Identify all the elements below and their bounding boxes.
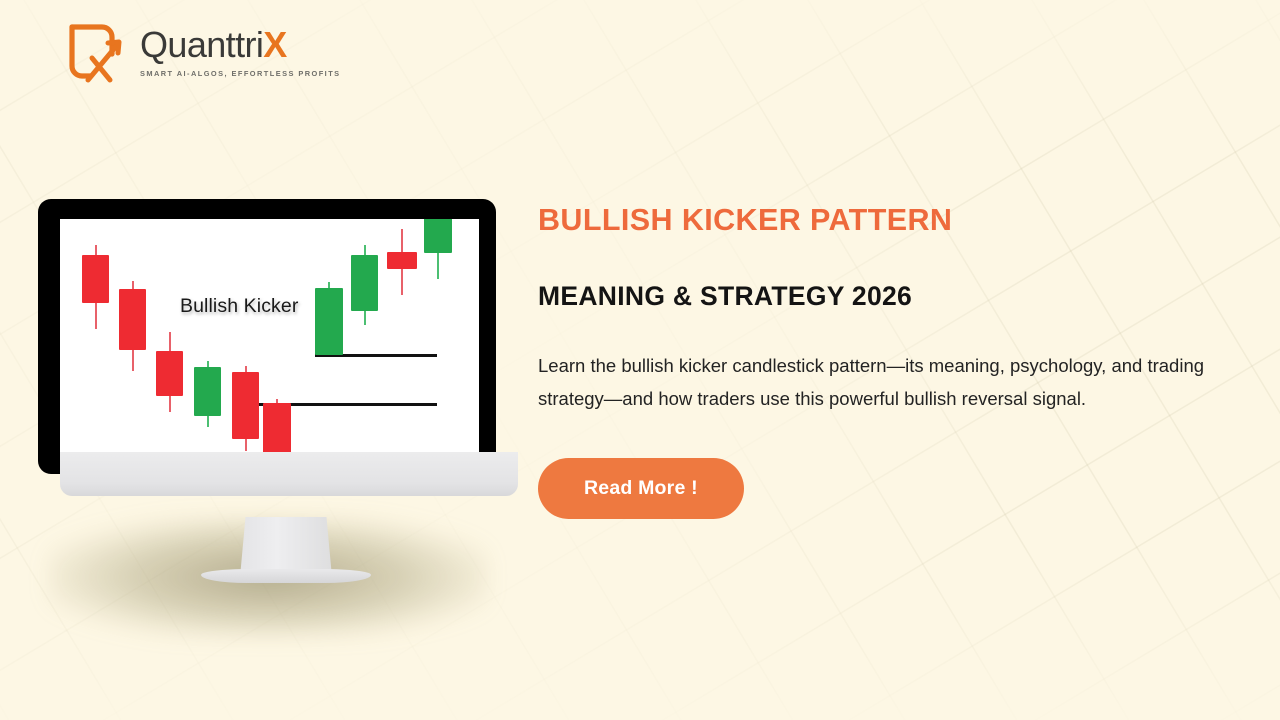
candle-8 (351, 245, 378, 325)
candle-body (156, 351, 183, 396)
page-subtitle: MEANING & STRATEGY 2026 (538, 281, 1268, 312)
candle-body (194, 367, 221, 416)
brand-name-accent: X (263, 24, 286, 65)
candle-1 (82, 245, 109, 329)
chart-annotation-label: Bullish Kicker (180, 295, 298, 318)
monitor-bezel: Bullish Kicker (38, 199, 496, 474)
content-column: BULLISH KICKER PATTERN MEANING & STRATEG… (538, 203, 1268, 519)
candle-10 (424, 219, 452, 279)
page-title: BULLISH KICKER PATTERN (538, 203, 1268, 237)
candle-body (119, 289, 146, 350)
candle-4 (194, 361, 221, 427)
read-more-button[interactable]: Read More ! (538, 458, 744, 519)
candle-body (387, 252, 417, 269)
brand-logo[interactable]: QuanttriX SMART AI-ALGOS, EFFORTLESS PRO… (60, 18, 341, 84)
brand-name-main: Quanttri (140, 24, 263, 65)
candle-body (424, 219, 452, 253)
quanttrix-logo-icon (60, 18, 130, 84)
monitor-stand-neck (240, 517, 332, 577)
candle-body (315, 288, 343, 355)
candle-2 (119, 281, 146, 371)
monitor-stand-base (201, 569, 371, 583)
candle-body (263, 403, 291, 453)
monitor-screen: Bullish Kicker (60, 219, 479, 453)
candle-7-kicker (315, 282, 343, 355)
candle-9 (387, 229, 417, 295)
monitor-chin (60, 452, 518, 496)
candle-body (351, 255, 378, 311)
candle-6 (263, 399, 291, 453)
candle-body (232, 372, 259, 439)
candlestick-chart: Bullish Kicker (60, 219, 479, 453)
description-paragraph: Learn the bullish kicker candlestick pat… (538, 350, 1268, 416)
brand-name: QuanttriX (140, 27, 341, 63)
candle-5 (232, 366, 259, 451)
candle-body (82, 255, 109, 303)
candle-3 (156, 332, 183, 412)
monitor-illustration: Bullish Kicker (38, 199, 496, 474)
brand-tagline: SMART AI-ALGOS, EFFORTLESS PROFITS (140, 69, 341, 78)
